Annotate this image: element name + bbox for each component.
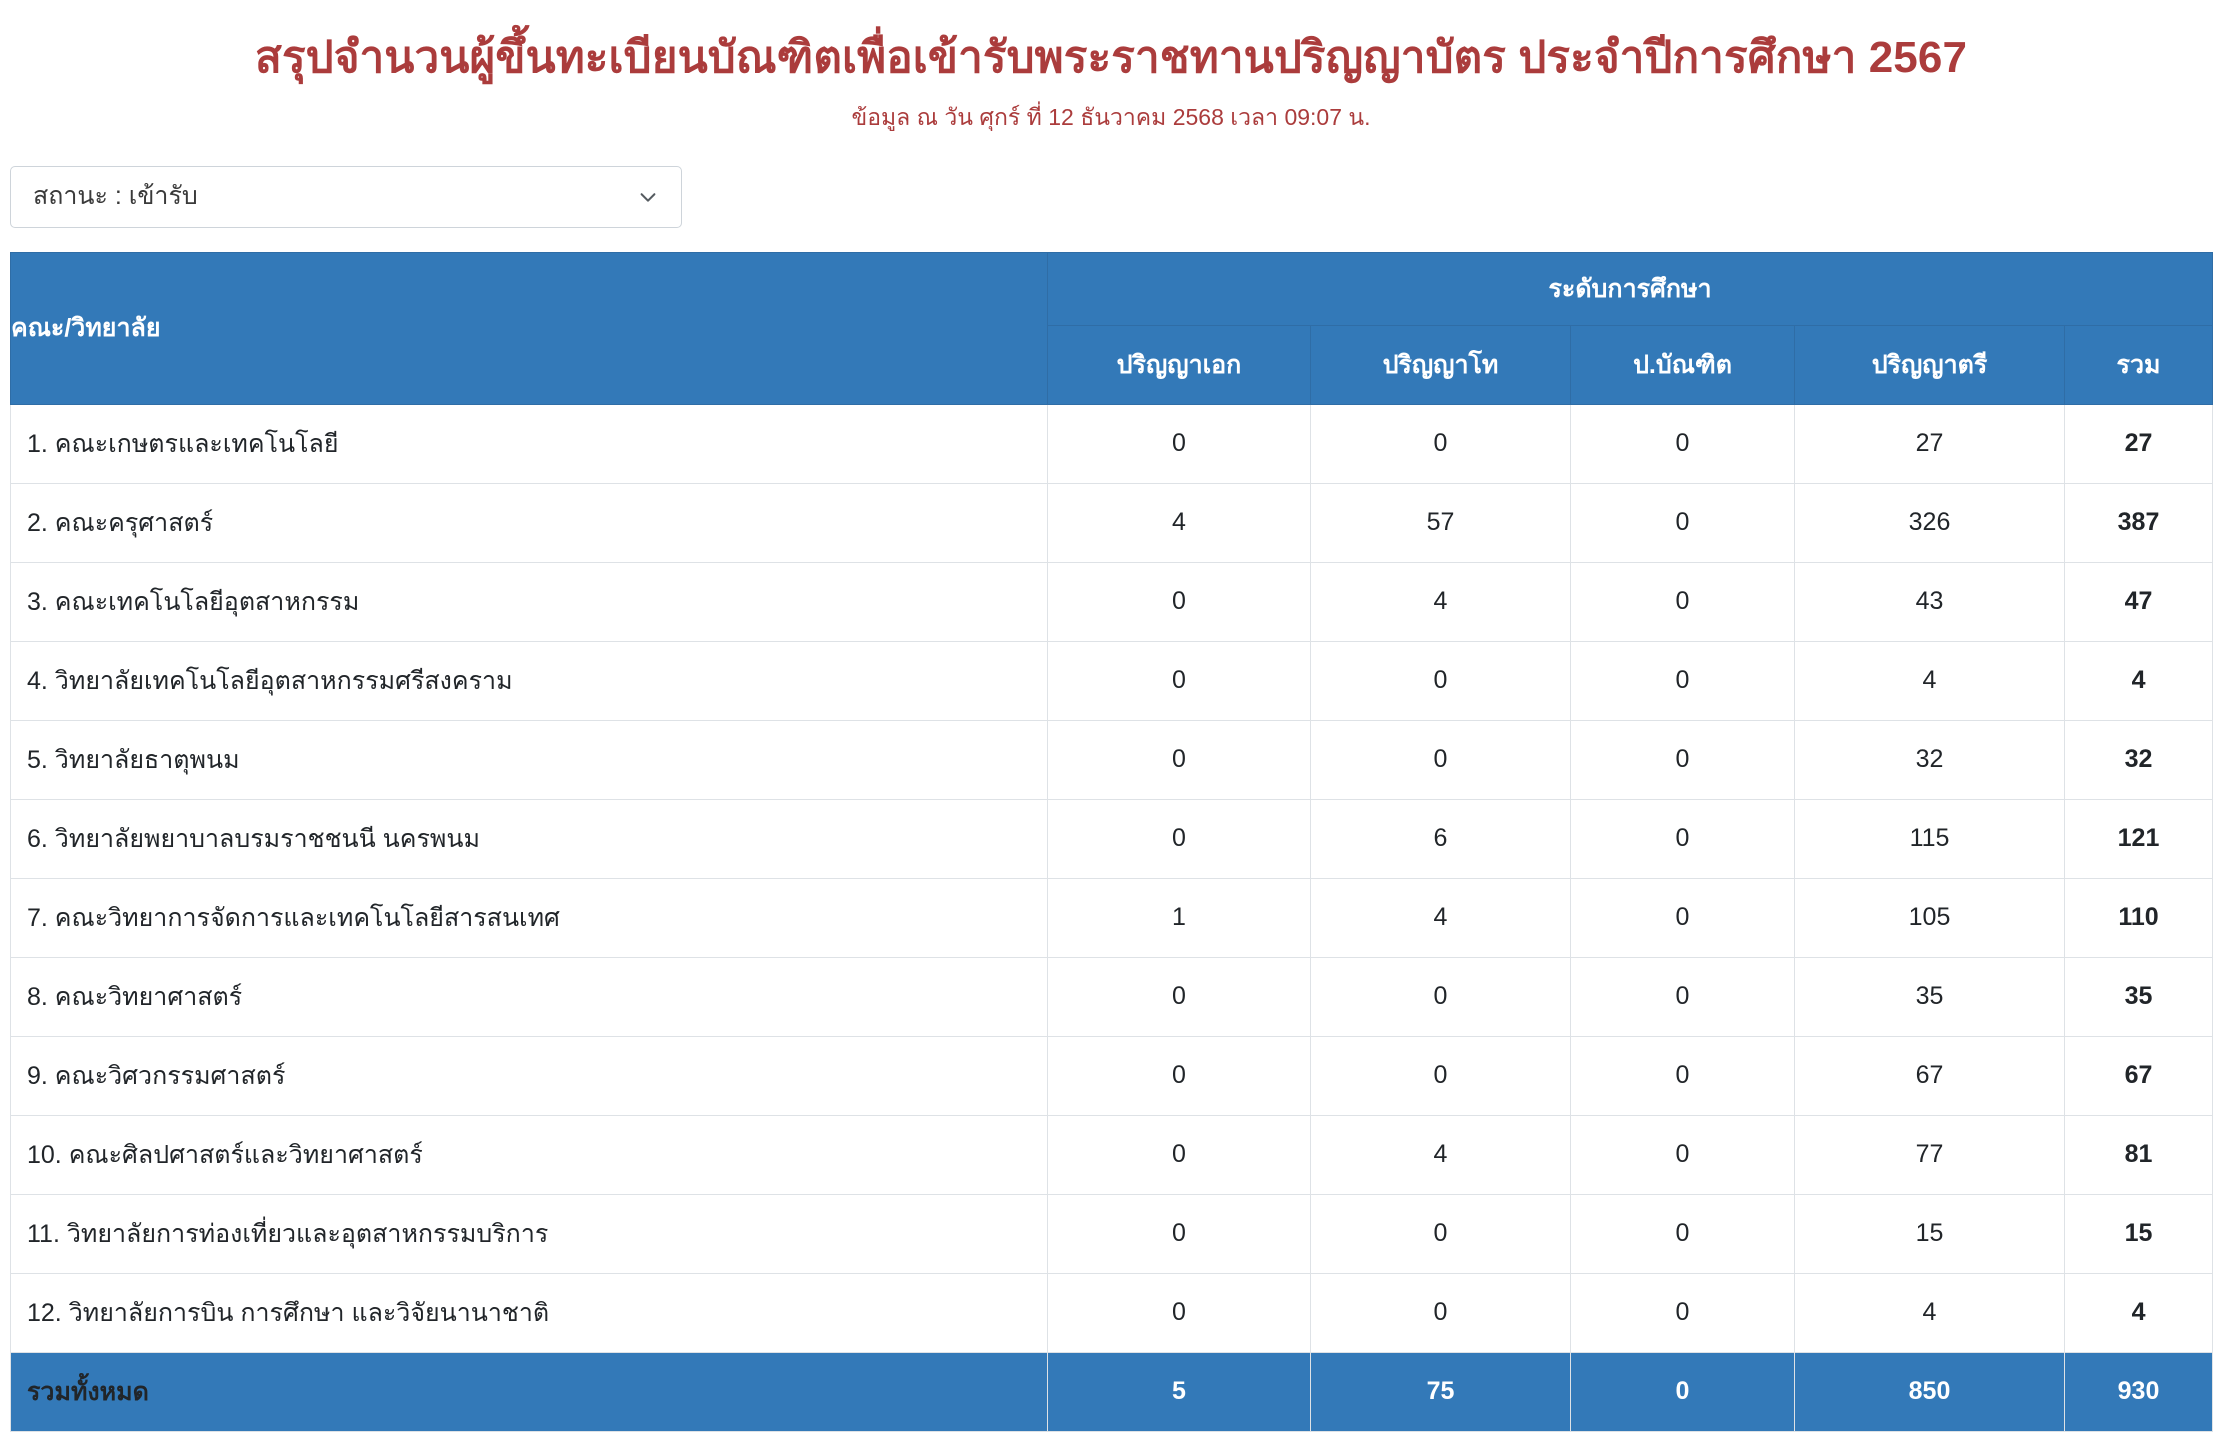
faculty-name: 3. คณะเทคโนโลยีอุตสาหกรรม: [11, 562, 1048, 641]
cell-doctorate: 0: [1048, 1115, 1311, 1194]
table-row: 2. คณะครุศาสตร์ 4 57 0 326 387: [11, 483, 2213, 562]
grand-total-master: 75: [1311, 1352, 1571, 1431]
column-header-faculty: คณะ/วิทยาลัย: [11, 252, 1048, 404]
table-row: 12. วิทยาลัยการบิน การศึกษา และวิจัยนานา…: [11, 1273, 2213, 1352]
cell-row-total: 47: [2065, 562, 2213, 641]
grand-total-label: รวมทั้งหมด: [11, 1352, 1048, 1431]
cell-bachelor: 77: [1795, 1115, 2065, 1194]
faculty-name: 12. วิทยาลัยการบิน การศึกษา และวิจัยนานา…: [11, 1273, 1048, 1352]
filter-row: สถานะ : เข้ารับ: [0, 166, 2222, 228]
faculty-name: 10. คณะศิลปศาสตร์และวิทยาศาสตร์: [11, 1115, 1048, 1194]
page-header: สรุปจำนวนผู้ขึ้นทะเบียนบัณฑิตเพื่อเข้ารั…: [0, 0, 2222, 133]
column-header-bachelor: ปริญญาตรี: [1795, 325, 2065, 404]
page-title: สรุปจำนวนผู้ขึ้นทะเบียนบัณฑิตเพื่อเข้ารั…: [0, 30, 2222, 85]
column-header-master: ปริญญาโท: [1311, 325, 1571, 404]
cell-doctorate: 0: [1048, 720, 1311, 799]
cell-row-total: 387: [2065, 483, 2213, 562]
cell-bachelor: 32: [1795, 720, 2065, 799]
cell-doctorate: 0: [1048, 1036, 1311, 1115]
cell-row-total: 4: [2065, 641, 2213, 720]
cell-master: 0: [1311, 1194, 1571, 1273]
cell-doctorate: 0: [1048, 799, 1311, 878]
table-row: 1. คณะเกษตรและเทคโนโลยี 0 0 0 27 27: [11, 404, 2213, 483]
page-root: สรุปจำนวนผู้ขึ้นทะเบียนบัณฑิตเพื่อเข้ารั…: [0, 0, 2222, 1442]
grand-total-grad-diploma: 0: [1571, 1352, 1795, 1431]
cell-row-total: 35: [2065, 957, 2213, 1036]
cell-doctorate: 0: [1048, 1194, 1311, 1273]
cell-grad-diploma: 0: [1571, 1194, 1795, 1273]
cell-grad-diploma: 0: [1571, 1115, 1795, 1194]
cell-row-total: 110: [2065, 878, 2213, 957]
cell-doctorate: 1: [1048, 878, 1311, 957]
data-timestamp-subtitle: ข้อมูล ณ วัน ศุกร์ ที่ 12 ธันวาคม 2568 เ…: [0, 103, 2222, 133]
cell-grad-diploma: 0: [1571, 957, 1795, 1036]
cell-bachelor: 27: [1795, 404, 2065, 483]
cell-doctorate: 0: [1048, 957, 1311, 1036]
faculty-name: 1. คณะเกษตรและเทคโนโลยี: [11, 404, 1048, 483]
cell-row-total: 67: [2065, 1036, 2213, 1115]
cell-grad-diploma: 0: [1571, 483, 1795, 562]
faculty-name: 4. วิทยาลัยเทคโนโลยีอุตสาหกรรมศรีสงคราม: [11, 641, 1048, 720]
cell-doctorate: 0: [1048, 404, 1311, 483]
column-header-row-total: รวม: [2065, 325, 2213, 404]
cell-bachelor: 326: [1795, 483, 2065, 562]
cell-row-total: 27: [2065, 404, 2213, 483]
cell-bachelor: 35: [1795, 957, 2065, 1036]
table-row: 11. วิทยาลัยการท่องเที่ยวและอุตสาหกรรมบร…: [11, 1194, 2213, 1273]
faculty-name: 11. วิทยาลัยการท่องเที่ยวและอุตสาหกรรมบร…: [11, 1194, 1048, 1273]
cell-bachelor: 67: [1795, 1036, 2065, 1115]
cell-master: 57: [1311, 483, 1571, 562]
status-filter-value: สถานะ : เข้ารับ: [33, 184, 198, 209]
cell-doctorate: 0: [1048, 1273, 1311, 1352]
table-row: 5. วิทยาลัยธาตุพนม 0 0 0 32 32: [11, 720, 2213, 799]
cell-master: 6: [1311, 799, 1571, 878]
cell-bachelor: 43: [1795, 562, 2065, 641]
cell-doctorate: 0: [1048, 641, 1311, 720]
cell-doctorate: 0: [1048, 562, 1311, 641]
cell-grad-diploma: 0: [1571, 720, 1795, 799]
grand-total-bachelor: 850: [1795, 1352, 2065, 1431]
cell-grad-diploma: 0: [1571, 799, 1795, 878]
cell-master: 0: [1311, 720, 1571, 799]
table-head-row-group: คณะ/วิทยาลัย ระดับการศึกษา: [11, 252, 2213, 325]
cell-doctorate: 4: [1048, 483, 1311, 562]
cell-master: 4: [1311, 878, 1571, 957]
table-row: 7. คณะวิทยาการจัดการและเทคโนโลยีสารสนเทศ…: [11, 878, 2213, 957]
graduate-summary-table: คณะ/วิทยาลัย ระดับการศึกษา ปริญญาเอก ปริ…: [10, 252, 2213, 1432]
cell-grad-diploma: 0: [1571, 1273, 1795, 1352]
cell-master: 0: [1311, 1273, 1571, 1352]
cell-row-total: 121: [2065, 799, 2213, 878]
cell-master: 0: [1311, 1036, 1571, 1115]
cell-row-total: 4: [2065, 1273, 2213, 1352]
grand-total-sum: 930: [2065, 1352, 2213, 1431]
cell-master: 0: [1311, 404, 1571, 483]
faculty-name: 9. คณะวิศวกรรมศาสตร์: [11, 1036, 1048, 1115]
grand-total-doctorate: 5: [1048, 1352, 1311, 1431]
cell-bachelor: 4: [1795, 641, 2065, 720]
column-header-grad-diploma: ป.บัณฑิต: [1571, 325, 1795, 404]
grand-total-row: รวมทั้งหมด 5 75 0 850 930: [11, 1352, 2213, 1431]
cell-master: 4: [1311, 1115, 1571, 1194]
table-body: 1. คณะเกษตรและเทคโนโลยี 0 0 0 27 27 2. ค…: [11, 404, 2213, 1431]
faculty-name: 2. คณะครุศาสตร์: [11, 483, 1048, 562]
cell-grad-diploma: 0: [1571, 562, 1795, 641]
table-head: คณะ/วิทยาลัย ระดับการศึกษา ปริญญาเอก ปริ…: [11, 252, 2213, 404]
column-header-doctorate: ปริญญาเอก: [1048, 325, 1311, 404]
cell-row-total: 32: [2065, 720, 2213, 799]
cell-grad-diploma: 0: [1571, 878, 1795, 957]
cell-master: 4: [1311, 562, 1571, 641]
faculty-name: 7. คณะวิทยาการจัดการและเทคโนโลยีสารสนเทศ: [11, 878, 1048, 957]
cell-bachelor: 4: [1795, 1273, 2065, 1352]
status-filter-select[interactable]: สถานะ : เข้ารับ: [10, 166, 682, 228]
table-row: 9. คณะวิศวกรรมศาสตร์ 0 0 0 67 67: [11, 1036, 2213, 1115]
table-row: 4. วิทยาลัยเทคโนโลยีอุตสาหกรรมศรีสงคราม …: [11, 641, 2213, 720]
cell-bachelor: 105: [1795, 878, 2065, 957]
column-group-header-education-level: ระดับการศึกษา: [1048, 252, 2213, 325]
cell-grad-diploma: 0: [1571, 641, 1795, 720]
cell-row-total: 15: [2065, 1194, 2213, 1273]
chevron-down-icon[interactable]: [637, 186, 659, 208]
cell-grad-diploma: 0: [1571, 1036, 1795, 1115]
table-row: 6. วิทยาลัยพยาบาลบรมราชชนนี นครพนม 0 6 0…: [11, 799, 2213, 878]
cell-row-total: 81: [2065, 1115, 2213, 1194]
table-row: 8. คณะวิทยาศาสตร์ 0 0 0 35 35: [11, 957, 2213, 1036]
cell-master: 0: [1311, 641, 1571, 720]
table-row: 3. คณะเทคโนโลยีอุตสาหกรรม 0 4 0 43 47: [11, 562, 2213, 641]
cell-grad-diploma: 0: [1571, 404, 1795, 483]
faculty-name: 6. วิทยาลัยพยาบาลบรมราชชนนี นครพนม: [11, 799, 1048, 878]
cell-master: 0: [1311, 957, 1571, 1036]
cell-bachelor: 15: [1795, 1194, 2065, 1273]
cell-bachelor: 115: [1795, 799, 2065, 878]
faculty-name: 5. วิทยาลัยธาตุพนม: [11, 720, 1048, 799]
table-row: 10. คณะศิลปศาสตร์และวิทยาศาสตร์ 0 4 0 77…: [11, 1115, 2213, 1194]
faculty-name: 8. คณะวิทยาศาสตร์: [11, 957, 1048, 1036]
summary-table-container: คณะ/วิทยาลัย ระดับการศึกษา ปริญญาเอก ปริ…: [0, 252, 2222, 1432]
